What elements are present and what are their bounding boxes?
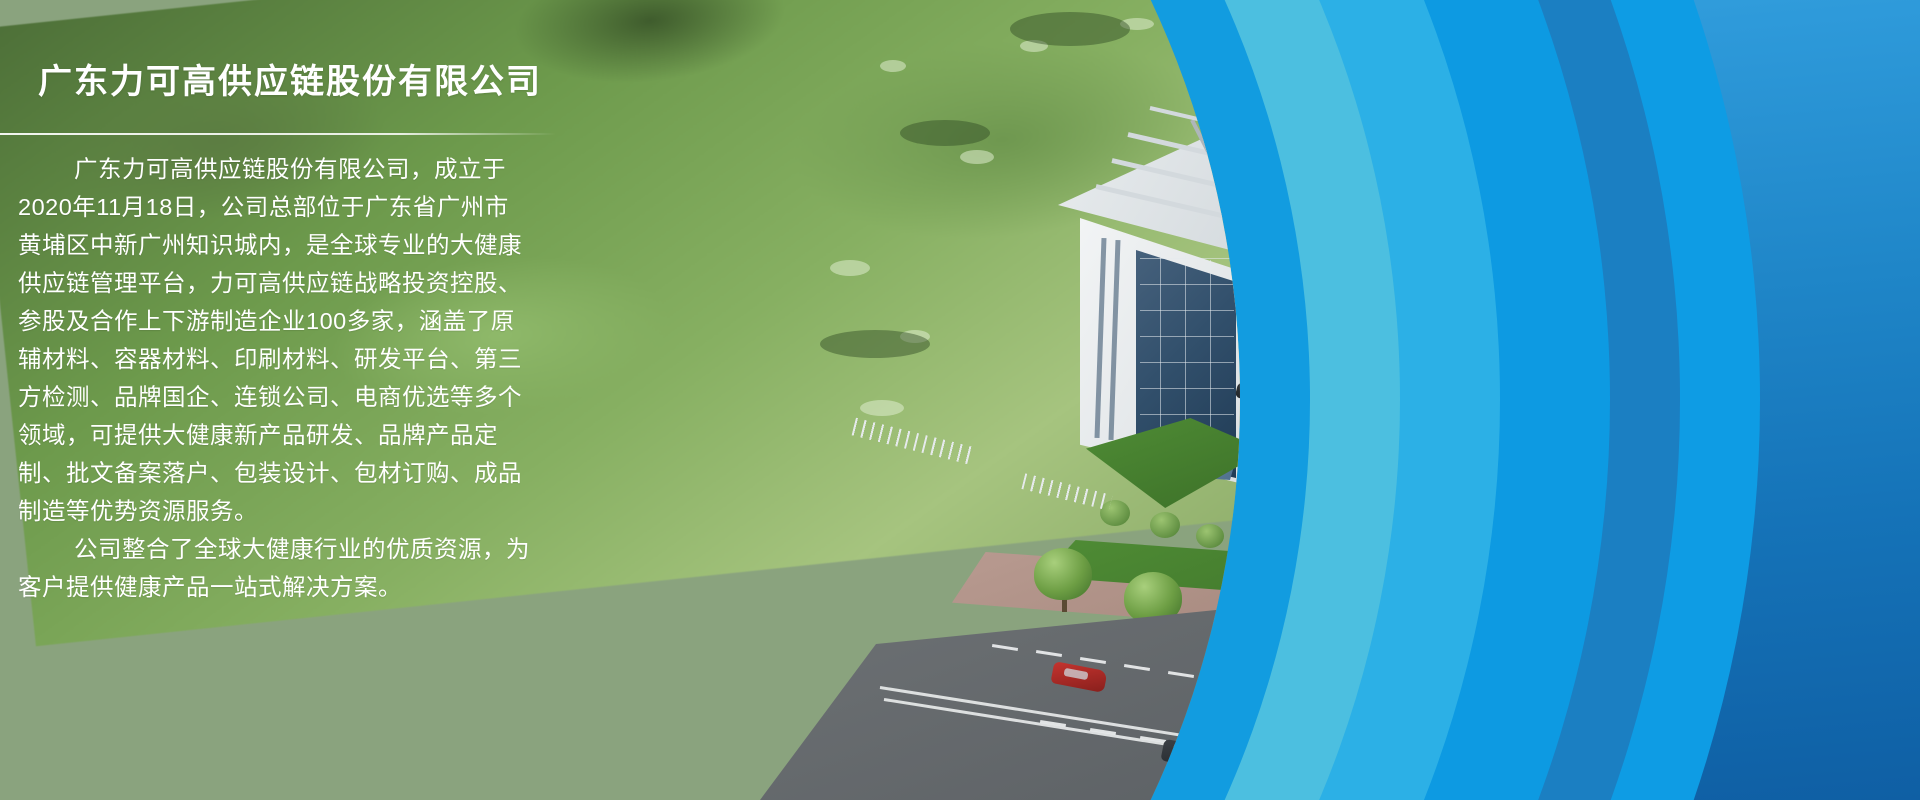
- page-title: 广东力可高供应链股份有限公司: [38, 54, 542, 103]
- description-line: 黄埔区中新广州知识城内，是全球专业的大健康: [18, 226, 528, 264]
- title-divider: [0, 133, 556, 135]
- description-line: 参股及合作上下游制造企业100多家，涵盖了原: [18, 302, 528, 340]
- description-line: 制造等优势资源服务。: [18, 492, 528, 530]
- description-line: 公司整合了全球大健康行业的优质资源，为: [18, 530, 528, 568]
- main-road: [760, 600, 1240, 800]
- description-line: 领域，可提供大健康新产品研发、品牌产品定: [18, 416, 528, 454]
- text-panel: 广东力可高供应链股份有限公司 广东力可高供应链股份有限公司，成立于2020年11…: [0, 0, 560, 800]
- description-line: 2020年11月18日，公司总部位于广东省广州市: [18, 188, 528, 226]
- banner-root: 力可高供应链产业园: [0, 0, 1920, 800]
- description-line: 广东力可高供应链股份有限公司，成立于: [18, 150, 528, 188]
- description-line: 方检测、品牌国企、连锁公司、电商优选等多个: [18, 378, 528, 416]
- description-line: 客户提供健康产品一站式解决方案。: [18, 568, 528, 606]
- description-line: 供应链管理平台，力可高供应链战略投资控股、: [18, 264, 528, 302]
- description-line: 制、批文备案落户、包装设计、包材订购、成品: [18, 454, 528, 492]
- street-tree: [1034, 548, 1092, 600]
- company-description: 广东力可高供应链股份有限公司，成立于2020年11月18日，公司总部位于广东省广…: [18, 150, 528, 606]
- description-line: 辅材料、容器材料、印刷材料、研发平台、第三: [18, 340, 528, 378]
